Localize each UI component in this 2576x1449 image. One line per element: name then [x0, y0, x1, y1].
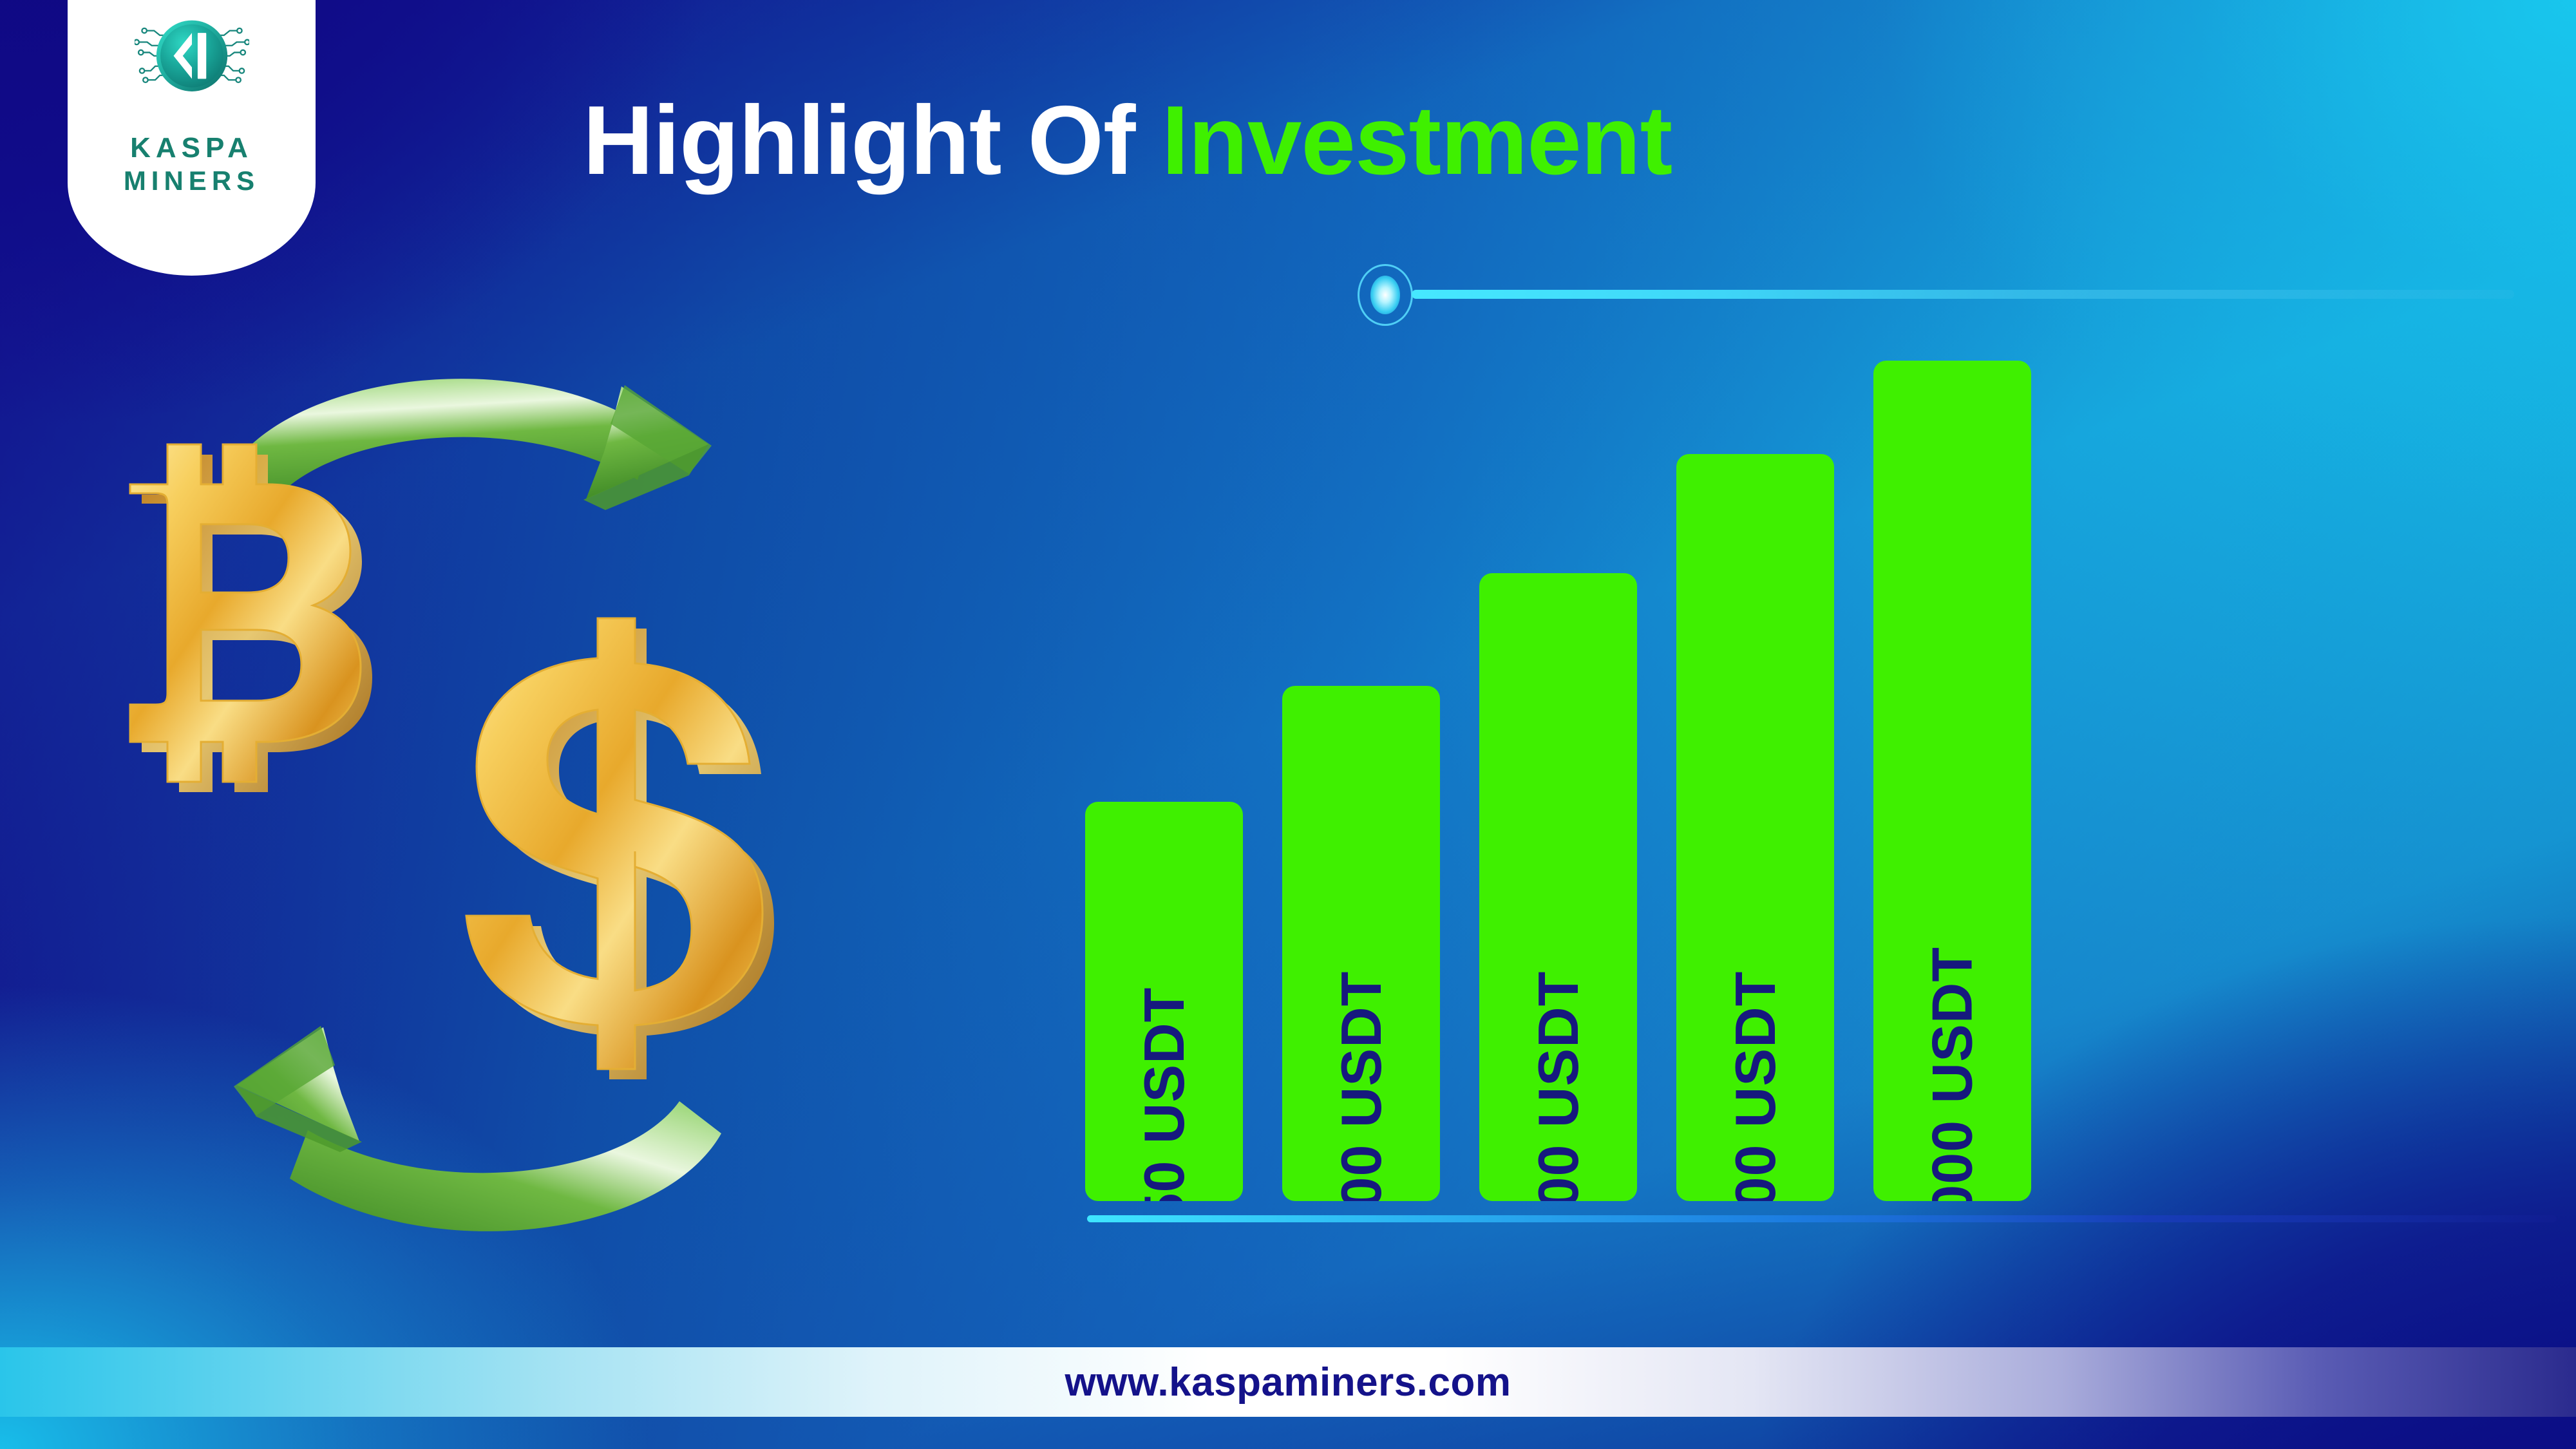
bitcoin-dollar-exchange-illustration — [71, 348, 876, 1262]
title-glow-dot-icon — [1358, 264, 1413, 326]
page-title-accent: Investment — [1162, 86, 1672, 195]
bar-1000-usdt[interactable]: 1,000 USDT — [1873, 361, 2031, 1201]
footer-website-url[interactable]: www.kaspaminers.com — [0, 1347, 2576, 1417]
page-title-main: Highlight Of — [583, 86, 1162, 195]
footer-band: www.kaspaminers.com — [0, 1307, 2576, 1449]
bar-label: 100 USDT — [1333, 971, 1390, 1201]
bar-label: 50 USDT — [1136, 987, 1193, 1201]
logo-badge[interactable]: KASPA MINERS — [68, 0, 316, 276]
dollar-symbol-icon — [466, 618, 774, 1079]
exchange-arrow-left-icon — [234, 1026, 721, 1231]
bitcoin-symbol-icon — [130, 444, 372, 792]
bar-50-usdt[interactable]: 50 USDT — [1085, 802, 1243, 1201]
logo-text-kaspa: KASPA — [130, 131, 253, 165]
bar-100-usdt[interactable]: 100 USDT — [1282, 686, 1440, 1201]
banner-canvas: KASPA MINERS Highlight Of Investment — [0, 0, 2576, 1449]
bar-500-usdt[interactable]: 500 USDT — [1676, 454, 1834, 1201]
page-title: Highlight Of Investment — [583, 91, 2521, 189]
bar-200-usdt[interactable]: 200 USDT — [1479, 573, 1637, 1201]
title-underline-rule — [1412, 290, 2514, 299]
bar-label: 200 USDT — [1530, 971, 1587, 1201]
kaspa-coin-circuit-icon — [135, 8, 249, 122]
bar-group: 50 USDT 100 USDT 200 USDT 500 USDT — [1085, 364, 2528, 1201]
chart-baseline — [1087, 1215, 2557, 1222]
logo-text-miners: MINERS — [124, 165, 260, 197]
investment-bar-chart: 50 USDT 100 USDT 200 USDT 500 USDT — [1056, 348, 2557, 1262]
bar-label: 500 USDT — [1727, 971, 1784, 1201]
bar-label: 1,000 USDT — [1924, 946, 1981, 1201]
